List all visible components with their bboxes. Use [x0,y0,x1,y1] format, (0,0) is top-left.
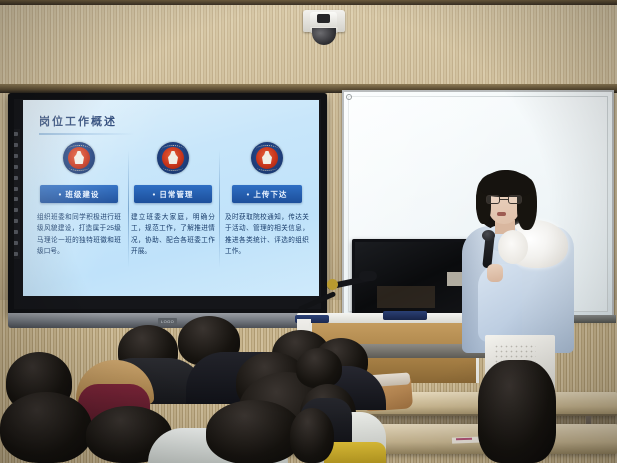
whiteboard-corner-fixing [346,94,352,100]
mic-capsule-icon [359,271,377,281]
interactive-display[interactable]: 岗位工作概述 • 班级建设 组织班委和同学积极进行班级风貌建设，打造属于25级马… [8,93,327,315]
lectern-blue-accessory [383,311,427,320]
fur-hood-inner [498,230,528,264]
presenter-hand [487,264,503,282]
display-bezel [8,93,327,315]
ceiling-beam [0,0,617,5]
display-brand-logo: LOGO [158,318,177,325]
presenter-hair-fringe [480,171,532,197]
glasses-icon [486,195,522,204]
audience-head [478,360,556,463]
presenter [462,168,574,353]
audience-head [206,400,302,463]
presenter-mouth [497,212,506,216]
camera-dome-icon [312,28,336,45]
audience-head [296,348,342,388]
microphone-head-icon [482,230,495,241]
gooseneck-mic-arm[interactable] [297,269,373,313]
monitor-reflection [377,286,435,308]
audience-head [0,392,92,463]
ceiling-camera [303,8,345,46]
camera-lens-icon [317,14,330,23]
classroom-scene: 岗位工作概述 • 班级建设 组织班委和同学积极进行班级风貌建设，打造属于25级马… [0,0,617,463]
audience-head [290,408,334,463]
